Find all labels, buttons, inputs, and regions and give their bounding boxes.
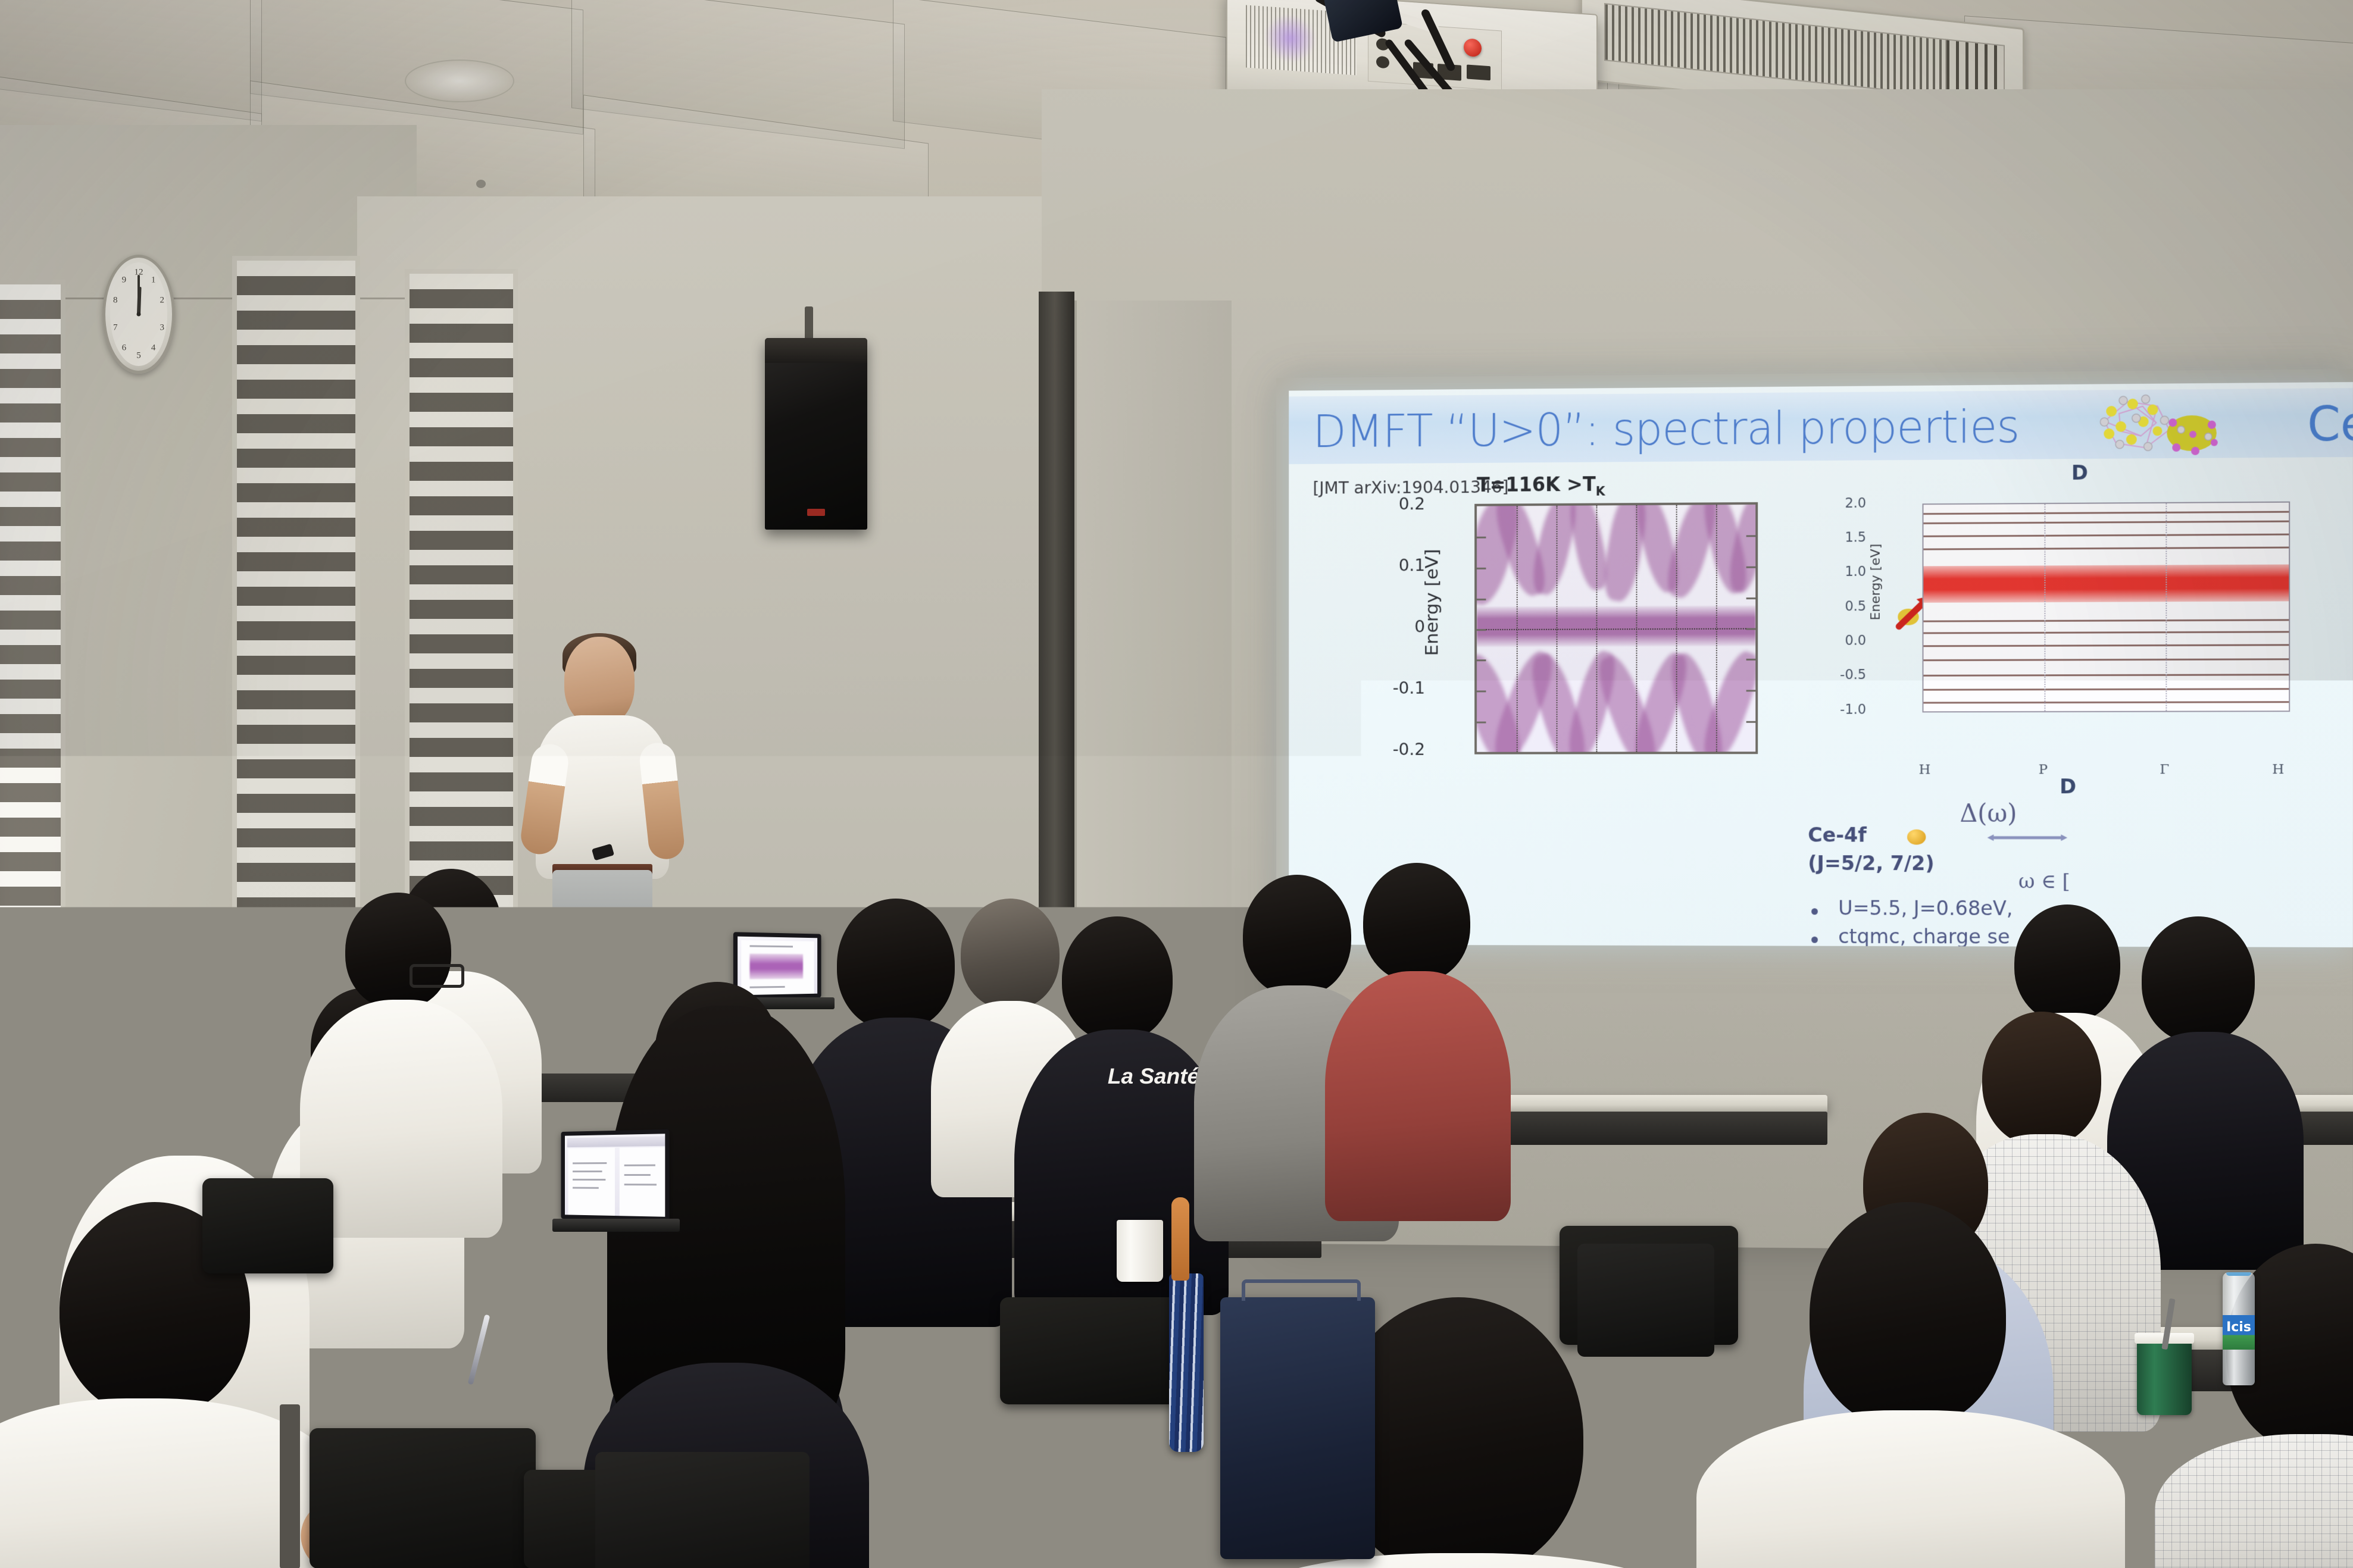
- head: [1062, 916, 1173, 1041]
- slide-bullet: ctqmc, charge se: [1838, 925, 2010, 947]
- chart-ytick: -0.2: [1393, 739, 1426, 759]
- wall-speaker: [765, 338, 867, 530]
- slide-content: DMFT “U>0”: spectral properties: [1289, 382, 2353, 947]
- head: [124, 1029, 246, 1166]
- ce-4f-label: Ce-4f: [1808, 824, 1867, 847]
- clock-numeral: 2: [160, 296, 164, 306]
- chart-ytick: 0.1: [1399, 555, 1425, 575]
- chart-plot-area: H P Γ H N P Γ: [1474, 502, 1758, 755]
- dmft-heading: D: [2071, 461, 2088, 485]
- bottle-brand-text: Icis: [2223, 1320, 2255, 1335]
- wall-clock: 12 1 2 3 4 5 6 7 8 9: [102, 255, 175, 374]
- umbrella-handle: [1171, 1197, 1189, 1281]
- clock-numeral: 4: [151, 343, 156, 353]
- chart2-ytick: 0.0: [1845, 633, 1866, 649]
- chart-ytick: 0: [1414, 616, 1425, 636]
- window: [232, 256, 360, 1029]
- chart-title: T=116K >TK: [1477, 472, 1605, 499]
- head: [345, 893, 451, 1009]
- plastic-bag: [1726, 1339, 1851, 1422]
- chart-ytick: 0.2: [1399, 494, 1425, 514]
- chart2-ytick: 0.5: [1845, 599, 1866, 615]
- clock-numeral: 9: [122, 276, 127, 286]
- chart2-ytick: 1.5: [1845, 530, 1866, 546]
- presenter-head: [564, 637, 635, 726]
- paper-cup[interactable]: [1117, 1220, 1163, 1282]
- flat-band: [1477, 606, 1755, 647]
- laptop-base: [552, 1219, 680, 1232]
- head: [1982, 1012, 2101, 1146]
- bottle-cap[interactable]: [2226, 1272, 2251, 1276]
- torso: [2155, 1434, 2353, 1568]
- chart-ylabel: Energy [eV]: [1421, 515, 1442, 690]
- water-bottle[interactable]: Icis: [2223, 1272, 2255, 1385]
- chart2-ytick: 2.0: [1845, 496, 1866, 511]
- slide-title: DMFT “U>0”: spectral properties: [1313, 400, 2020, 458]
- clock-numeral: 7: [113, 323, 118, 333]
- bag: [1577, 1244, 1714, 1357]
- umbrella[interactable]: [1169, 1273, 1204, 1452]
- clock-numeral: 8: [113, 296, 118, 306]
- chart2-plot-area: [1923, 502, 2290, 713]
- ce-4f-red-band: [1923, 565, 2289, 603]
- chart2-ytick: 1.0: [1845, 564, 1866, 580]
- chart2-ytick: -1.0: [1840, 702, 1866, 718]
- laptop-screen: [733, 932, 821, 999]
- clock-numeral: 5: [136, 351, 141, 361]
- rolling-suitcase[interactable]: [1220, 1297, 1375, 1559]
- chair: [1000, 1297, 1179, 1404]
- head: [1363, 863, 1470, 982]
- window: [0, 280, 65, 1137]
- head: [2142, 916, 2255, 1043]
- clock-center-pin: [137, 312, 141, 317]
- clock-numeral: 6: [122, 343, 127, 353]
- lecture-hall-photo: 12 1 2 3 4 5 6 7 8 9 DMFT “U>0”: spectra…: [0, 0, 2353, 1568]
- speaker-logo: [807, 509, 825, 516]
- chair: [310, 1428, 536, 1568]
- slide-bullet: U=5.5, J=0.68eV,: [1838, 897, 2013, 921]
- slide-title-right: Ce: [2307, 396, 2353, 452]
- desk: [1458, 1095, 1827, 1113]
- backpack: [595, 1452, 810, 1568]
- clock-numeral: 3: [160, 323, 164, 333]
- chart2-ytick: -0.5: [1840, 668, 1866, 683]
- head: [1243, 875, 1351, 996]
- head: [2014, 905, 2120, 1022]
- recessed-ceiling-light: [405, 60, 514, 102]
- spectral-function-chart: Energy [eV] T=116K >TK 0.2 0.1 0 -0.1 -0…: [1432, 502, 1796, 809]
- presenter-trousers: [552, 870, 652, 1007]
- clock-numeral: 1: [151, 276, 156, 286]
- laptop-toolbar: [567, 1136, 670, 1147]
- head: [961, 899, 1060, 1009]
- chart2-xtick: H: [2272, 762, 2284, 777]
- chart2-ylabel: Energy [eV]: [1868, 517, 1883, 647]
- hybridization-heading: D: [2060, 775, 2076, 799]
- omega-range-label: ω ∈ [: [2018, 869, 2070, 893]
- chart2-xtick: P: [2039, 762, 2048, 777]
- lda-band-structure-chart: Energy [eV] 2.0 1.5 1.0 0.5 0.0 -0.5 -1.…: [1872, 502, 2284, 758]
- torso: [1696, 1410, 2125, 1568]
- bottle-label: Icis: [2223, 1315, 2255, 1350]
- chart2-xtick: H: [1919, 762, 1931, 778]
- torso: [1325, 971, 1511, 1221]
- double-headed-arrow-icon: [1954, 834, 2101, 841]
- chart2-xtick: Γ: [2160, 762, 2169, 777]
- chair-frame: [280, 1404, 300, 1568]
- suitcase-handle[interactable]: [1242, 1279, 1360, 1301]
- smoke-detector-icon: [476, 180, 486, 188]
- eyeglasses-icon: [410, 964, 464, 988]
- chart-ytick: -0.1: [1393, 678, 1426, 698]
- desk-front-panel: [1458, 1112, 1827, 1145]
- notebook-spiral: [567, 1357, 579, 1400]
- laptop-screen[interactable]: [561, 1129, 669, 1221]
- head: [837, 899, 955, 1031]
- delta-omega-label: Δ(ω): [1960, 799, 2017, 828]
- coffee-cup[interactable]: [2137, 1339, 2192, 1415]
- chair: [202, 1178, 333, 1273]
- ce-4f-j-label: (J=5/2, 7/2): [1808, 852, 1934, 875]
- crystal-structure-icon: [2087, 388, 2235, 460]
- ce-orbital-dot-icon: [1907, 830, 1926, 845]
